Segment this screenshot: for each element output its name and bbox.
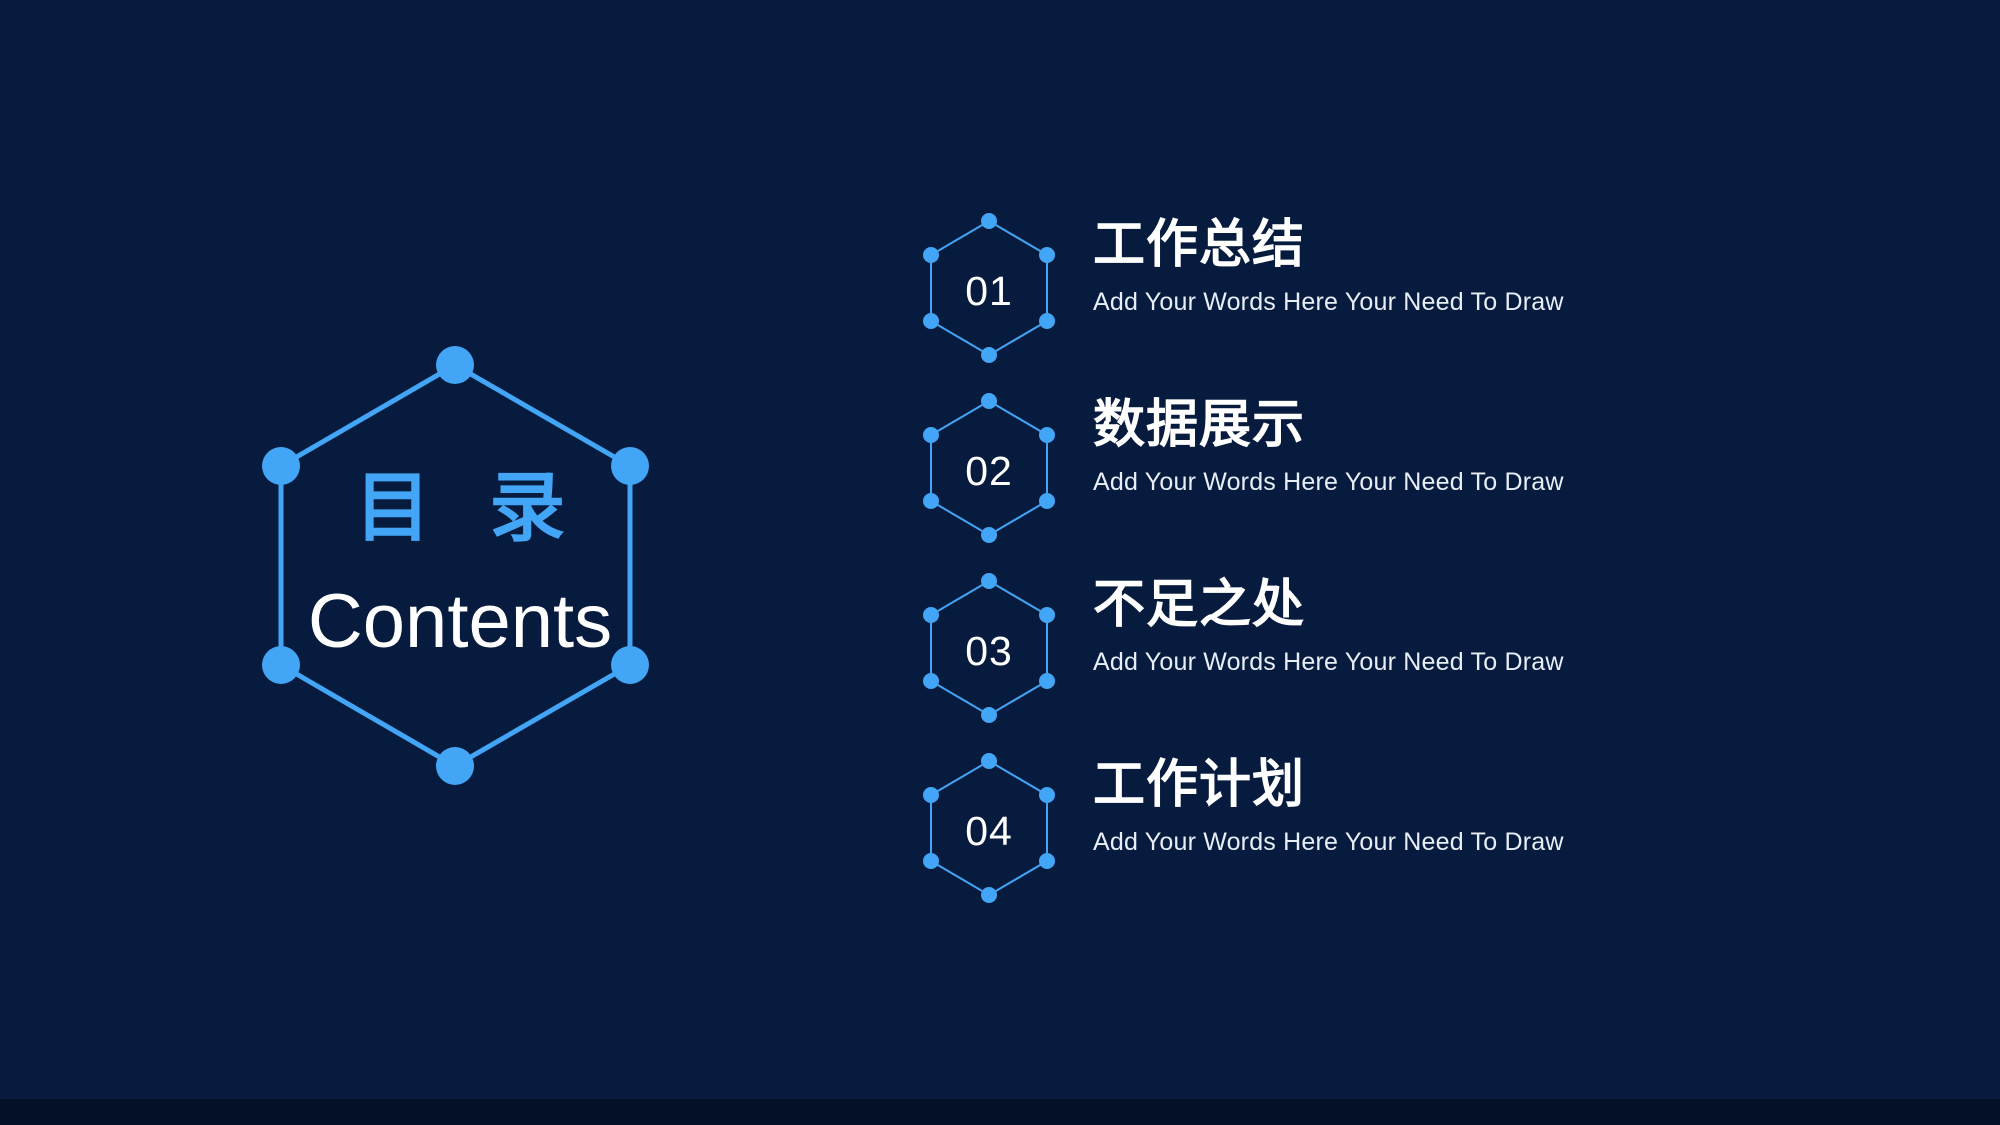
- item-title: 工作计划: [1093, 758, 1913, 813]
- item-number: 01: [922, 212, 1056, 364]
- item-hexagon-badge: 04: [922, 752, 1056, 904]
- item-text-group: 不足之处 Add Your Words Here Your Need To Dr…: [1093, 578, 1913, 677]
- item-text-group: 数据展示 Add Your Words Here Your Need To Dr…: [1093, 398, 1913, 497]
- item-number: 03: [922, 572, 1056, 724]
- item-hexagon-badge: 03: [922, 572, 1056, 724]
- toc-hexagon-block: 目 录 Contents: [255, 338, 665, 798]
- item-number: 02: [922, 392, 1056, 544]
- slide-canvas: 目 录 Contents: [0, 0, 2000, 1125]
- item-subtitle: Add Your Words Here Your Need To Draw: [1093, 829, 1913, 857]
- list-item[interactable]: 02 数据展示 Add Your Words Here Your Need To…: [922, 392, 1922, 572]
- item-title: 工作总结: [1093, 218, 1913, 273]
- item-title: 不足之处: [1093, 578, 1913, 633]
- item-subtitle: Add Your Words Here Your Need To Draw: [1093, 289, 1913, 317]
- contents-list: 01 工作总结 Add Your Words Here Your Need To…: [922, 212, 1922, 932]
- toc-heading-en: Contents: [308, 584, 612, 660]
- item-text-group: 工作总结 Add Your Words Here Your Need To Dr…: [1093, 218, 1913, 317]
- bottom-strip: [0, 1099, 2000, 1125]
- toc-heading-group: 目 录 Contents: [255, 338, 665, 798]
- list-item[interactable]: 03 不足之处 Add Your Words Here Your Need To…: [922, 572, 1922, 752]
- toc-heading-cn: 目 录: [339, 470, 581, 546]
- item-hexagon-badge: 01: [922, 212, 1056, 364]
- item-subtitle: Add Your Words Here Your Need To Draw: [1093, 649, 1913, 677]
- list-item[interactable]: 04 工作计划 Add Your Words Here Your Need To…: [922, 752, 1922, 932]
- item-number: 04: [922, 752, 1056, 904]
- item-text-group: 工作计划 Add Your Words Here Your Need To Dr…: [1093, 758, 1913, 857]
- list-item[interactable]: 01 工作总结 Add Your Words Here Your Need To…: [922, 212, 1922, 392]
- item-title: 数据展示: [1093, 398, 1913, 453]
- item-hexagon-badge: 02: [922, 392, 1056, 544]
- item-subtitle: Add Your Words Here Your Need To Draw: [1093, 469, 1913, 497]
